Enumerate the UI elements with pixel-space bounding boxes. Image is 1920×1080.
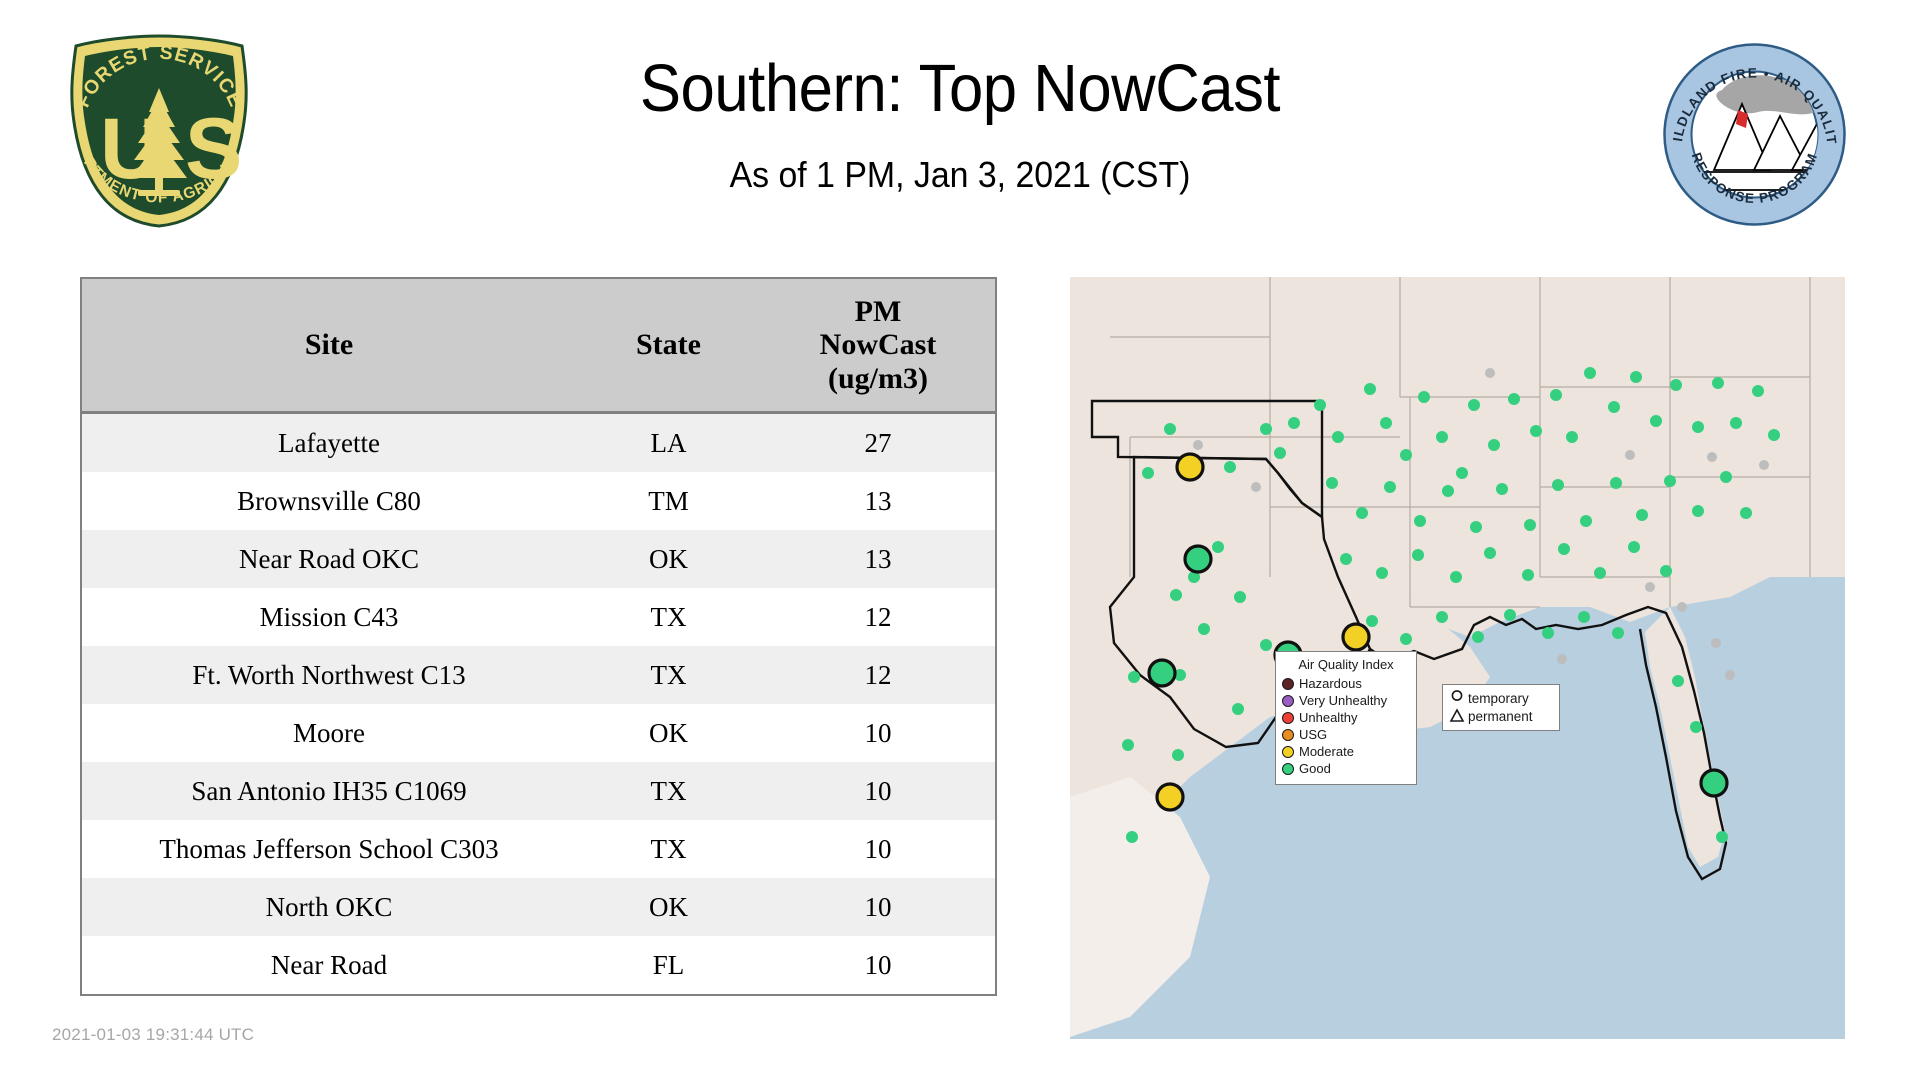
- marker-san-antonio: [1149, 660, 1175, 686]
- table-header-row: Site State PM NowCast (ug/m3): [81, 278, 996, 413]
- aqi-legend-title: Air Quality Index: [1282, 657, 1410, 672]
- marker-near-road-okc: [1177, 454, 1203, 480]
- marker-brownsville-c80: [1157, 784, 1183, 810]
- site-cell: Near Road OKC: [81, 530, 576, 588]
- state-cell: TM: [576, 472, 761, 530]
- usfs-shield-logo: FOREST SERVICE U S DEPARTMENT OF AGRICUL…: [52, 30, 267, 230]
- aqi-legend-label: USG: [1299, 727, 1327, 742]
- pm-nowcast-cell: 10: [761, 936, 996, 995]
- page-title: Southern: Top NowCast: [334, 48, 1585, 130]
- pm-nowcast-cell: 12: [761, 588, 996, 646]
- aqi-color-swatch: [1282, 695, 1294, 707]
- monitor-map[interactable]: Air Quality Index HazardousVery Unhealth…: [1070, 277, 1845, 1039]
- site-type-temporary-label: temporary: [1468, 691, 1529, 706]
- marker-lafayette: [1343, 624, 1369, 650]
- table-row: MooreOK10: [81, 704, 996, 762]
- state-cell: OK: [576, 530, 761, 588]
- column-header-state: State: [576, 278, 761, 413]
- site-type-legend: temporary permanent: [1442, 684, 1560, 731]
- aqi-legend-item: Unhealthy: [1282, 709, 1410, 726]
- site-type-permanent: permanent: [1449, 707, 1553, 725]
- table-row: San Antonio IH35 C1069TX10: [81, 762, 996, 820]
- aqi-color-swatch: [1282, 678, 1294, 690]
- site-cell: Brownsville C80: [81, 472, 576, 530]
- aqi-legend-label: Moderate: [1299, 744, 1354, 759]
- aqi-legend-items: HazardousVery UnhealthyUnhealthyUSGModer…: [1282, 675, 1410, 777]
- pm-header-line-1: PM: [855, 295, 902, 328]
- column-header-site: Site: [81, 278, 576, 413]
- state-cell: TX: [576, 762, 761, 820]
- aqi-color-swatch: [1282, 746, 1294, 758]
- triangle-icon: [1449, 708, 1465, 724]
- aqi-color-swatch: [1282, 763, 1294, 775]
- table-row: Near RoadFL10: [81, 936, 996, 995]
- aqi-legend-label: Good: [1299, 761, 1331, 776]
- pm-nowcast-cell: 10: [761, 704, 996, 762]
- marker-ft-worth-northwest: [1185, 546, 1211, 572]
- pm-nowcast-cell: 10: [761, 762, 996, 820]
- table-row: North OKCOK10: [81, 878, 996, 936]
- page-subtitle: As of 1 PM, Jan 3, 2021 (CST): [321, 154, 1599, 196]
- site-cell: Lafayette: [81, 413, 576, 473]
- aqi-legend-label: Unhealthy: [1299, 710, 1358, 725]
- page-header: FOREST SERVICE U S DEPARTMENT OF AGRICUL…: [0, 0, 1920, 265]
- site-type-temporary: temporary: [1449, 689, 1553, 707]
- state-cell: OK: [576, 878, 761, 936]
- table-body: LafayetteLA27Brownsville C80TM13Near Roa…: [81, 413, 996, 996]
- aqi-color-swatch: [1282, 729, 1294, 741]
- pm-header-line-3: (ug/m3): [828, 362, 928, 395]
- pm-nowcast-cell: 10: [761, 820, 996, 878]
- site-cell: Near Road: [81, 936, 576, 995]
- nowcast-table: Site State PM NowCast (ug/m3) LafayetteL…: [80, 277, 997, 996]
- aqi-legend-label: Hazardous: [1299, 676, 1362, 691]
- state-cell: TX: [576, 820, 761, 878]
- pm-nowcast-cell: 13: [761, 472, 996, 530]
- state-cell: FL: [576, 936, 761, 995]
- state-cell: TX: [576, 646, 761, 704]
- pm-header-line-2: NowCast: [820, 328, 937, 361]
- pm-nowcast-cell: 12: [761, 646, 996, 704]
- circle-icon: [1449, 690, 1465, 706]
- site-cell: Mission C43: [81, 588, 576, 646]
- table-row: Mission C43TX12: [81, 588, 996, 646]
- table-row: Ft. Worth Northwest C13TX12: [81, 646, 996, 704]
- site-cell: San Antonio IH35 C1069: [81, 762, 576, 820]
- site-type-permanent-label: permanent: [1468, 709, 1533, 724]
- pm-nowcast-cell: 10: [761, 878, 996, 936]
- aqi-legend-item: Good: [1282, 760, 1410, 777]
- title-block: Southern: Top NowCast As of 1 PM, Jan 3,…: [280, 48, 1640, 196]
- wfaq-response-program-logo: WILDLAND FIRE • AIR QUALITY RESPONSE PRO…: [1662, 42, 1847, 227]
- aqi-legend: Air Quality Index HazardousVery Unhealth…: [1275, 651, 1417, 785]
- state-cell: LA: [576, 413, 761, 473]
- table-row: Near Road OKCOK13: [81, 530, 996, 588]
- marker-near-road-fl: [1701, 770, 1727, 796]
- aqi-color-swatch: [1282, 712, 1294, 724]
- column-header-pm-nowcast: PM NowCast (ug/m3): [761, 278, 996, 413]
- nowcast-table-panel: Site State PM NowCast (ug/m3) LafayetteL…: [80, 277, 995, 996]
- generated-timestamp: 2021-01-03 19:31:44 UTC: [52, 1025, 254, 1045]
- table-row: Brownsville C80TM13: [81, 472, 996, 530]
- state-cell: TX: [576, 588, 761, 646]
- aqi-legend-item: USG: [1282, 726, 1410, 743]
- state-cell: OK: [576, 704, 761, 762]
- site-cell: Thomas Jefferson School C303: [81, 820, 576, 878]
- aqi-legend-item: Moderate: [1282, 743, 1410, 760]
- table-row: LafayetteLA27: [81, 413, 996, 473]
- site-cell: Ft. Worth Northwest C13: [81, 646, 576, 704]
- pm-nowcast-cell: 27: [761, 413, 996, 473]
- site-cell: Moore: [81, 704, 576, 762]
- aqi-legend-item: Very Unhealthy: [1282, 692, 1410, 709]
- pm-nowcast-cell: 13: [761, 530, 996, 588]
- aqi-legend-item: Hazardous: [1282, 675, 1410, 692]
- site-cell: North OKC: [81, 878, 576, 936]
- aqi-legend-label: Very Unhealthy: [1299, 693, 1387, 708]
- table-row: Thomas Jefferson School C303TX10: [81, 820, 996, 878]
